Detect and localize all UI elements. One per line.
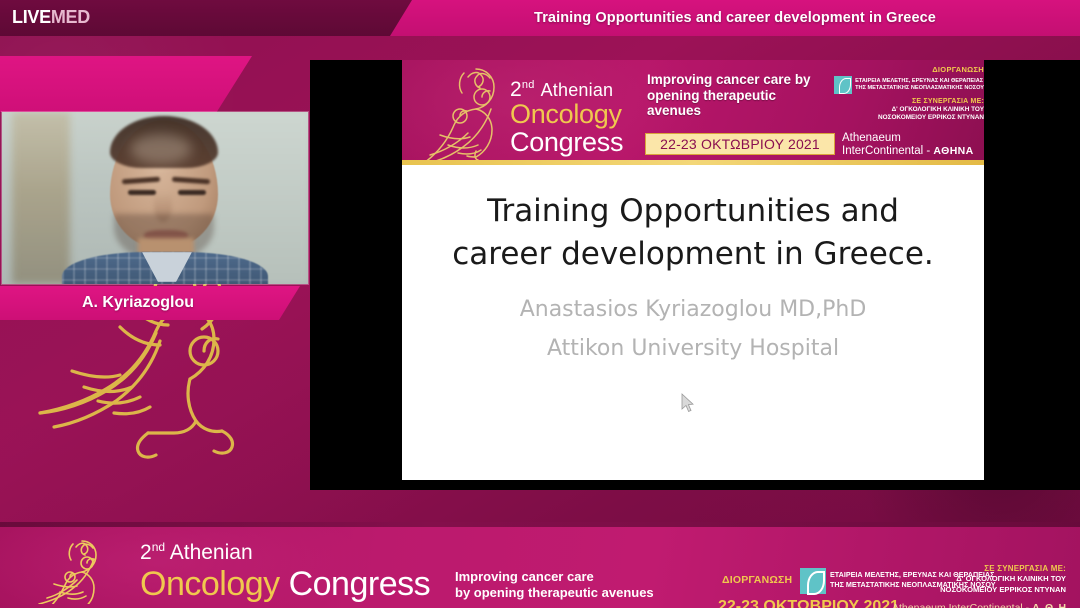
- banner-coop-name-1: Δ' ΟΓΚΟΛΟΓΙΚΗ ΚΛΙΝΙΚΗ ΤΟΥ: [866, 574, 1066, 584]
- banner-tagline: Improving cancer care by opening therape…: [455, 569, 685, 601]
- banner-edition-number: 2: [140, 541, 152, 564]
- slide-subtitle-line2: Attikon University Hospital: [428, 329, 958, 368]
- banner-venue: Athenaeum InterContinental - Α Θ Η Ν Α: [892, 602, 1080, 608]
- slide-subtitle-line1: Anastasios Kyriazoglou MD,PhD: [428, 290, 958, 329]
- banner-coop-name-2: ΝΟΣΟΚΟΜΕΙΟΥ ΕΡΡΙΚΟΣ ΝΤΥΝΑΝ: [866, 585, 1066, 595]
- owl-logo-icon: [416, 63, 508, 161]
- banner-cooperation: ΣΕ ΣΥΝΕΡΓΑΣΙΑ ΜΕ: Δ' ΟΓΚΟΛΟΓΙΚΗ ΚΛΙΝΙΚΗ …: [866, 564, 1066, 594]
- slide-body: Training Opportunities and career develo…: [402, 165, 984, 480]
- banner-venue-name: Athenaeum InterContinental -: [892, 602, 1032, 608]
- bottom-banner: 2nd Athenian Oncology Congress Improving…: [0, 522, 1080, 608]
- slide-title-line1: Training Opportunities and: [428, 190, 958, 233]
- player-topbar: Training Opportunities and career develo…: [0, 0, 1080, 36]
- banner-date: 22-23 ΟΚΤΩΒΡΙΟΥ 2021: [718, 598, 899, 608]
- slide-edition-suffix: nd: [522, 79, 535, 91]
- slide-title: Training Opportunities and career develo…: [428, 190, 958, 276]
- banner-tagline-line2: by opening therapeutic avenues: [455, 585, 685, 601]
- presenter-eye-left: [128, 190, 156, 195]
- owl-logo-icon: [36, 538, 108, 604]
- presenter-top-band: [0, 56, 252, 112]
- slide-date-badge: 22-23 ΟΚΤΩΒΡΙΟΥ 2021: [645, 133, 835, 155]
- livemed-logo-med: MED: [51, 7, 90, 27]
- slide-header: 2nd Athenian Oncology Congress Improving…: [402, 60, 984, 165]
- society-logo-icon: [834, 76, 852, 94]
- livemed-logo[interactable]: LIVEMED: [12, 6, 90, 28]
- slide-athenian: Athenian: [541, 80, 614, 100]
- slide-organizers: ΔΙΟΡΓΑΝΩΣΗ ΕΤΑΙΡΕΙΑ ΜΕΛΕΤΗΣ, ΕΡΕΥΝΑΣ ΚΑΙ…: [834, 65, 984, 122]
- slide-title-line2: career development in Greece.: [428, 233, 958, 276]
- video-bookshelf: [12, 112, 70, 284]
- banner-edition-suffix: nd: [152, 540, 165, 554]
- slide-coop-name-2: ΝΟΣΟΚΟΜΕΙΟΥ ΕΡΡΙΚΟΣ ΝΤΥΝΑΝ: [834, 114, 984, 122]
- slide-venue-line1: Athenaeum: [842, 132, 982, 145]
- slide-coop-name-1: Δ' ΟΓΚΟΛΟΓΙΚΗ ΚΛΙΝΙΚΗ ΤΟΥ: [834, 106, 984, 114]
- video-player-stage: Training Opportunities and career develo…: [0, 0, 1080, 608]
- society-logo-icon: [800, 568, 826, 594]
- presenter-video-tile[interactable]: [2, 112, 308, 284]
- arrow-cursor-icon: [681, 393, 695, 413]
- banner-tagline-line1: Improving cancer care: [455, 569, 685, 585]
- banner-oncology: Oncology: [140, 565, 280, 603]
- slide-subtitle: Anastasios Kyriazoglou MD,PhD Attikon Un…: [428, 290, 958, 368]
- slide-letterbox: 2nd Athenian Oncology Congress Improving…: [310, 60, 1080, 490]
- presenter-forehead-highlight: [130, 134, 192, 164]
- slide-venue-line2: InterContinental -: [842, 145, 933, 157]
- slide-venue-city: ΑΘΗΝΑ: [933, 145, 973, 157]
- slide-venue: Athenaeum InterContinental - ΑΘΗΝΑ: [842, 132, 982, 157]
- session-title: Training Opportunities and career develo…: [390, 0, 1080, 36]
- slide-edition-number: 2: [510, 78, 522, 101]
- slide-org-label: ΔΙΟΡΓΑΝΩΣΗ: [834, 65, 984, 74]
- banner-org-label: ΔΙΟΡΓΑΝΩΣΗ: [722, 574, 792, 586]
- banner-congress: Congress: [289, 565, 431, 603]
- presenter-eye-right: [178, 190, 206, 195]
- presenter-name: A. Kyriazoglou: [0, 286, 276, 320]
- presenter-name-band: A. Kyriazoglou: [0, 286, 300, 320]
- banner-congress-brand: 2nd Athenian Oncology Congress: [140, 535, 440, 603]
- slide-tagline: Improving cancer care by opening therape…: [647, 72, 832, 119]
- banner-athenian: Athenian: [170, 541, 253, 564]
- slide-surface[interactable]: 2nd Athenian Oncology Congress Improving…: [402, 60, 984, 480]
- livemed-logo-live: LIVE: [12, 7, 51, 27]
- slide-coop-label: ΣΕ ΣΥΝΕΡΓΑΣΙΑ ΜΕ:: [834, 98, 984, 105]
- slide-org-name-2: ΤΗΣ ΜΕΤΑΣΤΑΤΙΚΗΣ ΝΕΟΠΛΑΣΜΑΤΙΚΗΣ ΝΟΣΟΥ: [855, 85, 984, 92]
- banner-coop-label: ΣΕ ΣΥΝΕΡΓΑΣΙΑ ΜΕ:: [866, 564, 1066, 573]
- slide-org-name-1: ΕΤΑΙΡΕΙΑ ΜΕΛΕΤΗΣ, ΕΡΕΥΝΑΣ ΚΑΙ ΘΕΡΑΠΕΙΑΣ: [855, 78, 984, 85]
